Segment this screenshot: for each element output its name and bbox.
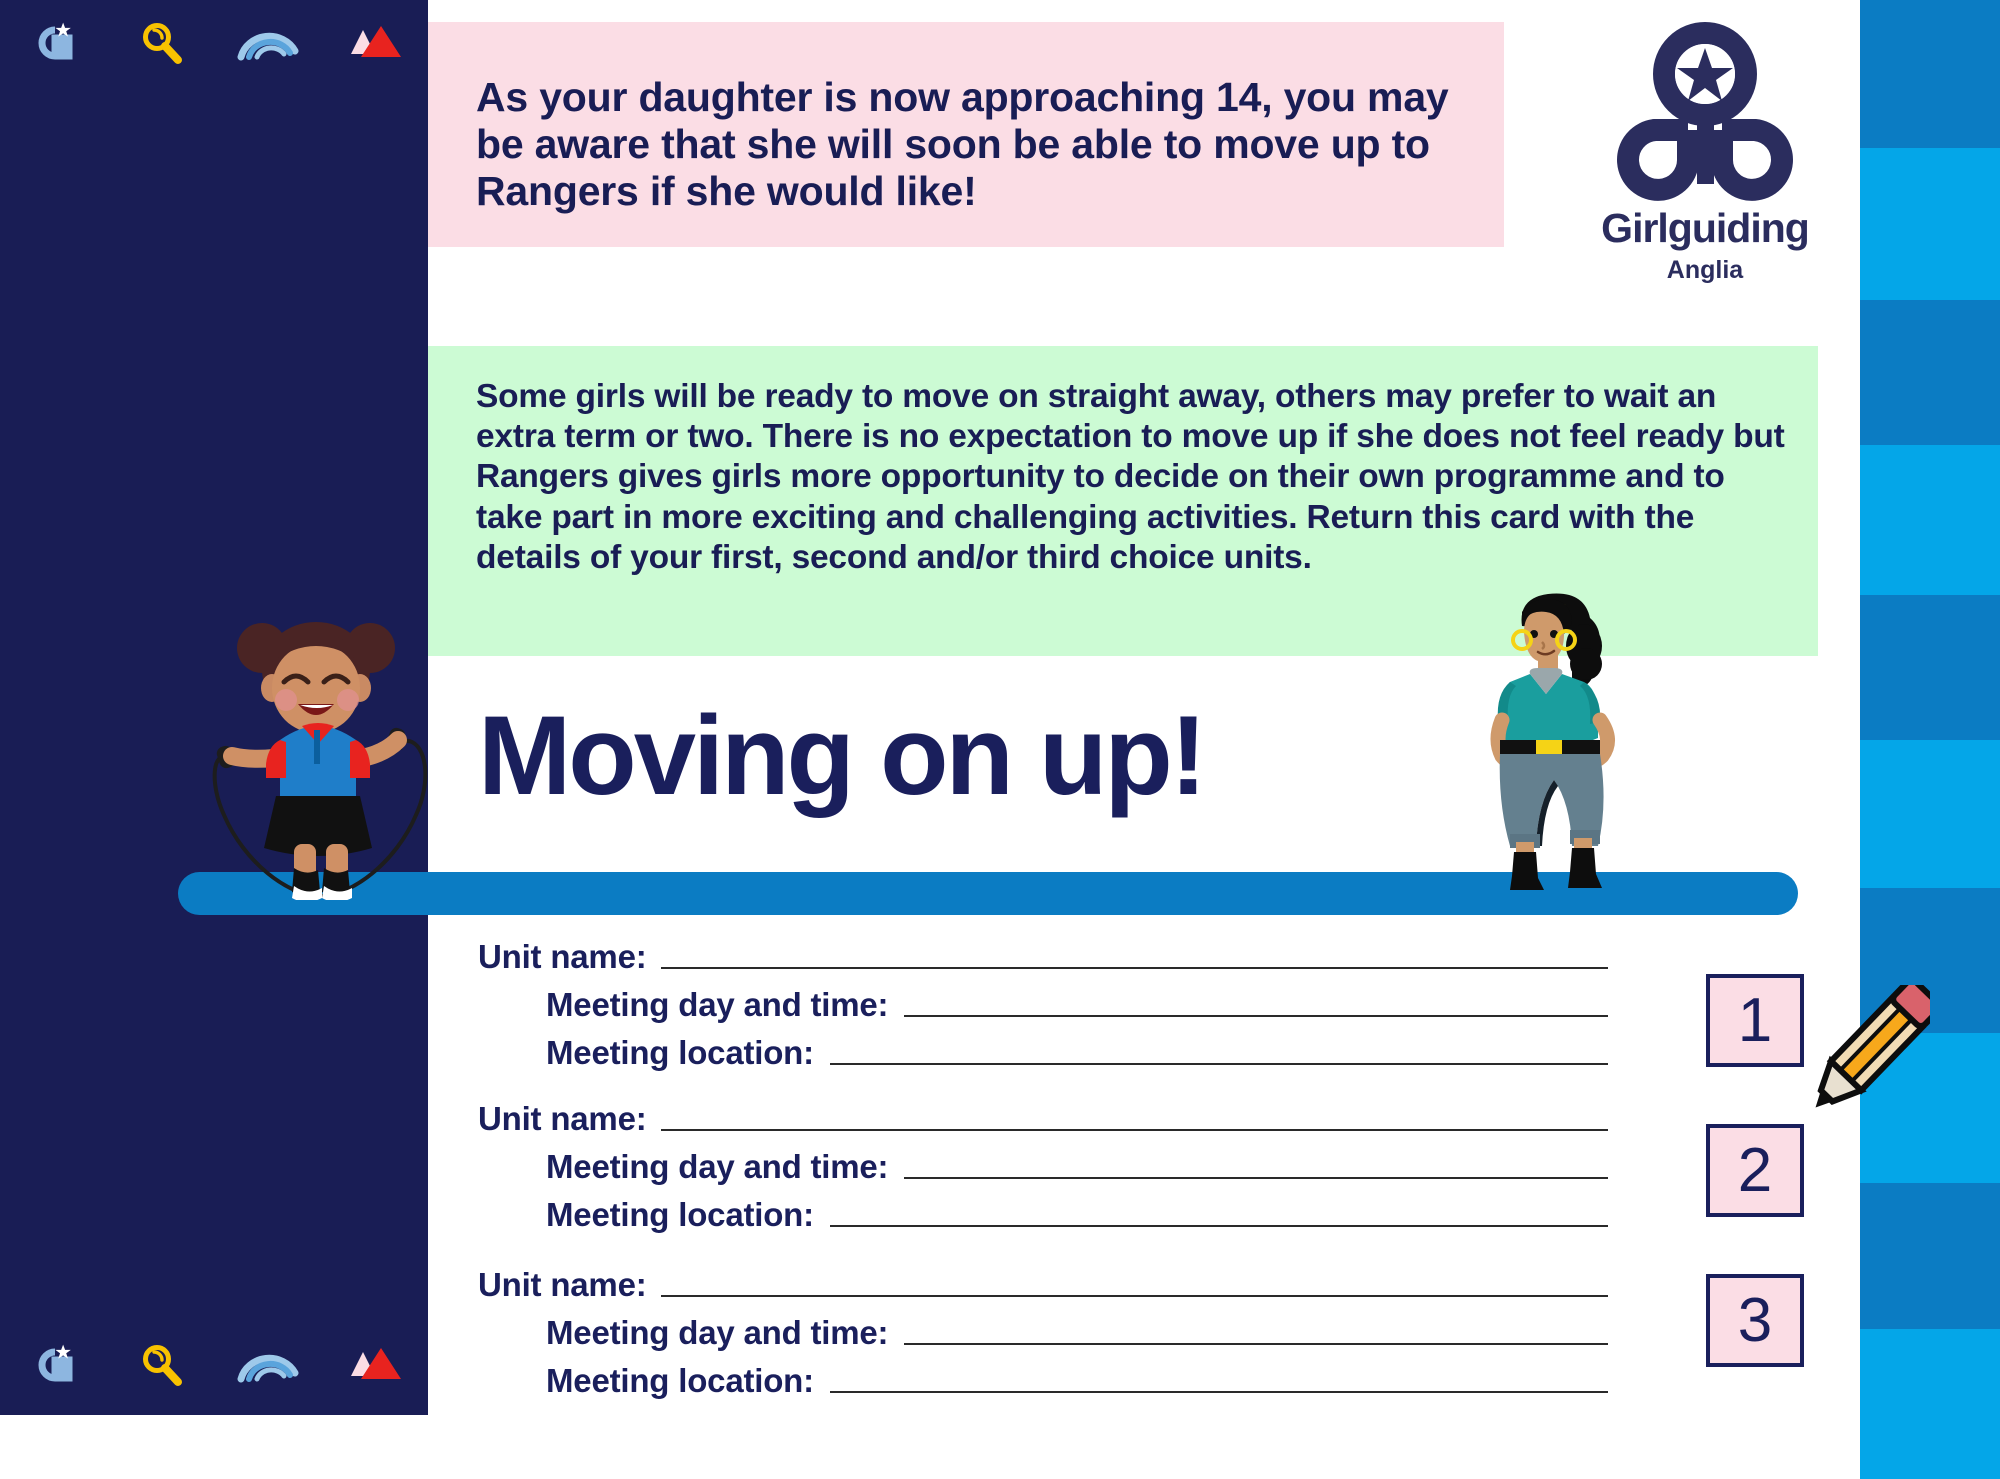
field-meeting-day-1[interactable]: Meeting day and time: <box>478 973 1608 1021</box>
poster-page: As your daughter is now approaching 14, … <box>0 0 2000 1415</box>
field-meeting-day-3[interactable]: Meeting day and time: <box>478 1301 1608 1349</box>
unit-group-2: Unit name: Meeting day and time: Meeting… <box>478 1087 1608 1231</box>
input-unit-name-1[interactable] <box>661 967 1608 969</box>
label-unit-name: Unit name: <box>478 1268 647 1301</box>
label-unit-name: Unit name: <box>478 940 647 973</box>
label-meeting-location: Meeting location: <box>546 1364 814 1397</box>
choice-number-box-2: 2 <box>1706 1124 1804 1217</box>
input-unit-name-3[interactable] <box>661 1295 1608 1297</box>
choice-number-box-1: 1 <box>1706 974 1804 1067</box>
label-meeting-day: Meeting day and time: <box>546 1316 888 1349</box>
field-meeting-location-1[interactable]: Meeting location: <box>478 1021 1608 1069</box>
label-unit-name: Unit name: <box>478 1102 647 1135</box>
field-meeting-location-3[interactable]: Meeting location: <box>478 1349 1608 1397</box>
label-meeting-day: Meeting day and time: <box>546 988 888 1021</box>
label-meeting-location: Meeting location: <box>546 1198 814 1231</box>
input-unit-name-2[interactable] <box>661 1129 1608 1131</box>
input-meeting-day-3[interactable] <box>904 1343 1608 1345</box>
girl-skipping-rope-illustration <box>210 600 430 900</box>
field-unit-name-3[interactable]: Unit name: <box>478 1253 1608 1301</box>
input-meeting-day-2[interactable] <box>904 1177 1608 1179</box>
pencil-icon <box>1800 985 1930 1125</box>
label-meeting-location: Meeting location: <box>546 1036 814 1069</box>
choice-number-box-3: 3 <box>1706 1274 1804 1367</box>
field-meeting-location-2[interactable]: Meeting location: <box>478 1183 1608 1231</box>
field-meeting-day-2[interactable]: Meeting day and time: <box>478 1135 1608 1183</box>
input-meeting-location-2[interactable] <box>830 1225 1608 1227</box>
unit-group-1: Unit name: Meeting day and time: Meeting… <box>478 925 1608 1069</box>
input-meeting-day-1[interactable] <box>904 1015 1608 1017</box>
field-unit-name-1[interactable]: Unit name: <box>478 925 1608 973</box>
input-meeting-location-1[interactable] <box>830 1063 1608 1065</box>
input-meeting-location-3[interactable] <box>830 1391 1608 1393</box>
label-meeting-day: Meeting day and time: <box>546 1150 888 1183</box>
woman-standing-illustration <box>1480 590 1640 900</box>
field-unit-name-2[interactable]: Unit name: <box>478 1087 1608 1135</box>
unit-group-3: Unit name: Meeting day and time: Meeting… <box>478 1253 1608 1397</box>
